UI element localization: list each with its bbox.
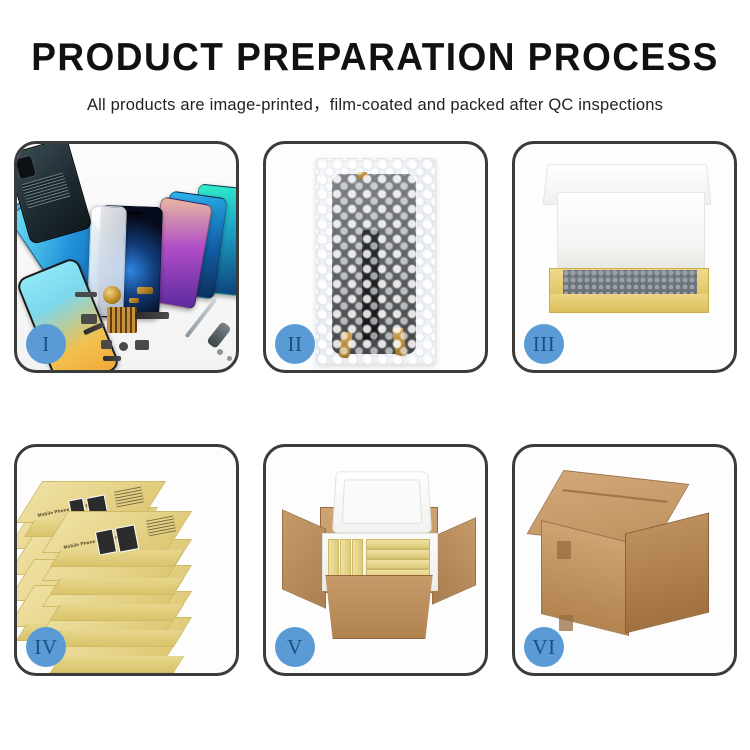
- step-badge-2: II: [275, 324, 315, 364]
- step-panel-4: Mobile Phone Spare Parts Mobile Phone Sp…: [14, 444, 239, 676]
- foam-lid-inner-edge: [342, 480, 422, 524]
- flex-cable-1: [135, 312, 169, 319]
- step-panel-6: VI: [512, 444, 737, 676]
- camera-module: [17, 154, 37, 180]
- inner-box-horizontal-1: [366, 539, 430, 549]
- screwdriver-handle: [206, 321, 231, 349]
- step-badge-5: V: [275, 627, 315, 667]
- box-side-front-5: [50, 656, 185, 673]
- step-badge-3: III: [524, 324, 564, 364]
- flex-cable-3: [103, 356, 121, 361]
- step-panel-2: II: [263, 141, 488, 373]
- yellow-box-front-face: [549, 294, 709, 313]
- small-chip-4: [119, 342, 128, 351]
- box-side-labelled-front: [50, 550, 185, 567]
- gold-chip-2: [129, 298, 139, 303]
- box-side-front-2: [50, 578, 185, 595]
- carton-tape-upper: [557, 541, 571, 559]
- gold-component-round: [103, 286, 121, 304]
- page-subtitle: All products are image-printed，film-coat…: [0, 91, 750, 115]
- process-steps-grid: I II III: [14, 141, 738, 676]
- gold-chip-1: [137, 287, 153, 294]
- carton-right-face: [625, 513, 709, 634]
- flex-cable-strip: [362, 230, 379, 340]
- step-badge-4: IV: [26, 627, 66, 667]
- grey-foam-padding: [563, 270, 697, 296]
- step-badge-6: VI: [524, 627, 564, 667]
- white-foam-sheet: [557, 192, 705, 272]
- screw-2: [227, 356, 232, 361]
- gold-contact-grid: [107, 307, 137, 333]
- foam-lid-open: [332, 471, 432, 533]
- step-panel-5: V: [263, 444, 488, 676]
- carton-tape-lower: [559, 615, 573, 631]
- small-chip-1: [75, 292, 97, 297]
- small-chip-3: [101, 340, 112, 349]
- carton-flap-right: [432, 517, 476, 605]
- step-panel-3: III: [512, 141, 737, 373]
- gold-connector-top: [358, 172, 367, 179]
- carton-front-wall: [318, 575, 440, 639]
- small-chip-2: [81, 314, 97, 324]
- page-header: PRODUCT PREPARATION PROCESS All products…: [0, 0, 750, 115]
- page-title: PRODUCT PREPARATION PROCESS: [19, 38, 732, 77]
- box-side-front-4: [50, 630, 185, 647]
- inner-box-horizontal-3: [366, 559, 430, 569]
- phone-back-housing: [17, 144, 93, 245]
- box-side-front-3: [50, 604, 185, 621]
- screw-1: [217, 349, 223, 355]
- step-panel-1: I: [14, 141, 239, 373]
- small-chip-5: [135, 340, 149, 350]
- inner-box-horizontal-2: [366, 549, 430, 559]
- step-badge-1: I: [26, 324, 66, 364]
